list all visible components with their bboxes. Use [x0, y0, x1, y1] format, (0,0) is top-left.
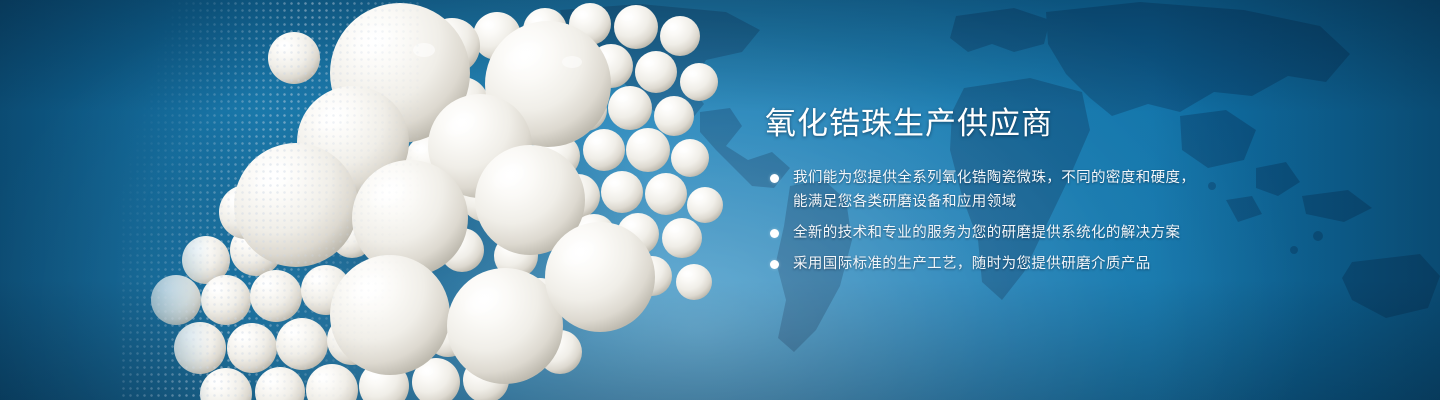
list-item-line-1: 全新的技术和专业的服务为您的研磨提供系统化的解决方案 — [793, 225, 1180, 241]
list-item-line-2: 能满足您各类研磨设备和应用领域 — [793, 190, 1325, 214]
list-item: 我们能为您提供全系列氧化锆陶瓷微珠，不同的密度和硬度， 能满足您各类研磨设备和应… — [765, 166, 1325, 214]
hero-banner: 氧化锆珠生产供应商 我们能为您提供全系列氧化锆陶瓷微珠，不同的密度和硬度， 能满… — [0, 0, 1440, 400]
bullet-dot-icon — [770, 229, 779, 238]
feature-list: 我们能为您提供全系列氧化锆陶瓷微珠，不同的密度和硬度， 能满足您各类研磨设备和应… — [765, 166, 1325, 276]
bullet-dot-icon — [770, 260, 779, 269]
list-item: 全新的技术和专业的服务为您的研磨提供系统化的解决方案 — [765, 221, 1325, 245]
banner-copy: 氧化锆珠生产供应商 我们能为您提供全系列氧化锆陶瓷微珠，不同的密度和硬度， 能满… — [765, 104, 1325, 276]
list-item-line-1: 采用国际标准的生产工艺，随时为您提供研磨介质产品 — [793, 256, 1151, 272]
bullet-dot-icon — [770, 174, 779, 183]
list-item-line-1: 我们能为您提供全系列氧化锆陶瓷微珠，不同的密度和硬度， — [793, 170, 1195, 186]
page-title: 氧化锆珠生产供应商 — [765, 104, 1325, 144]
zirconia-beads-image — [0, 0, 780, 400]
list-item: 采用国际标准的生产工艺，随时为您提供研磨介质产品 — [765, 252, 1325, 276]
